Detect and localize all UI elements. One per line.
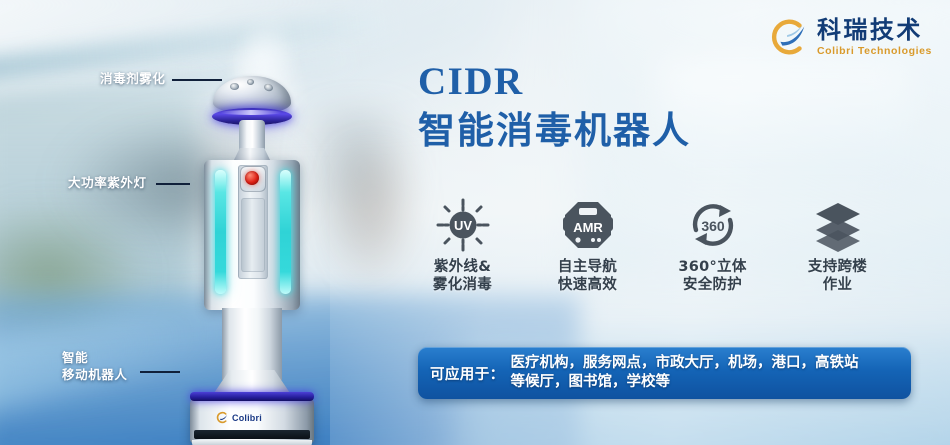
brand-name-en: Colibri Technologies [817, 46, 932, 57]
feature-item-multifloor: 支持跨楼 作业 [775, 196, 900, 294]
callout-uv-lamp-label: 大功率紫外灯 [68, 176, 147, 190]
application-text-line1: 医疗机构，服务网点，市政大厅，机场，港口，高铁站 [511, 354, 859, 373]
callout-atomize-label: 消毒剂雾化 [100, 72, 166, 86]
product-name-cn: 智能消毒机器人 [418, 112, 691, 151]
rotate-360-icon: 360 [684, 196, 742, 254]
feature-caption-multifloor-line1: 支持跨楼 [808, 259, 867, 277]
callout-atomize: 消毒剂雾化 [100, 71, 166, 88]
feature-caption-amr-line2: 快速高效 [558, 277, 617, 295]
robot-uv-lamp-right [280, 170, 291, 294]
feature-caption-uv: 紫外线& 雾化消毒 [433, 259, 492, 294]
application-text-line2: 等候厅，图书馆，学校等 [511, 373, 859, 392]
svg-text:UV: UV [453, 218, 471, 233]
feature-caption-360-line2: 安全防护 [678, 277, 746, 295]
feature-caption-uv-line2: 雾化消毒 [433, 277, 492, 295]
brand-logo-words: 科瑞技术 Colibri Technologies [817, 18, 932, 57]
robot-head-ring-gloss [220, 110, 282, 115]
stacked-layers-icon [810, 196, 866, 254]
feature-item-360: 360 360°立体 安全防护 [650, 196, 775, 294]
feature-caption-multifloor: 支持跨楼 作业 [808, 259, 867, 294]
product-code: CIDR [418, 62, 691, 101]
callout-uv-lamp-leader-line [156, 183, 190, 185]
robot-base-foot [192, 440, 312, 445]
robot-head-nozzle-3 [247, 79, 254, 85]
robot-power-button [245, 171, 259, 185]
application-banner: 可应用于： 医疗机构，服务网点，市政大厅，机场，港口，高铁站 等候厅，图书馆，学… [418, 347, 911, 399]
feature-caption-amr-line1: 自主导航 [558, 259, 617, 277]
brand-logo: 科瑞技术 Colibri Technologies [768, 16, 932, 58]
brand-name-cn: 科瑞技术 [817, 18, 932, 42]
feature-item-amr: AMR 自主导航 快速高效 [525, 196, 650, 294]
feature-list: UV 紫外线& 雾化消毒 AMR [400, 196, 940, 294]
svg-text:360: 360 [701, 218, 725, 234]
amr-robot-icon: AMR [560, 196, 616, 254]
feature-caption-amr: 自主导航 快速高效 [558, 259, 617, 294]
feature-caption-multifloor-line2: 作业 [808, 277, 867, 295]
colibri-bird-c-icon [768, 16, 810, 58]
feature-caption-360-line1: 360°立体 [678, 259, 746, 277]
callout-mobile-robot-leader-line [140, 371, 180, 373]
product-poster: Colibri 消毒剂雾化 大功率紫外灯 智能 移动机器人 科瑞技术 Colib… [0, 0, 950, 445]
colibri-bird-c-icon [216, 411, 229, 424]
disinfection-robot-image: Colibri [160, 70, 320, 430]
callout-atomize-leader-line [172, 79, 222, 81]
robot-base-logo-text: Colibri [232, 413, 262, 423]
application-label: 可应用于： [430, 363, 505, 384]
robot-base-logo: Colibri [216, 410, 288, 425]
svg-text:AMR: AMR [573, 220, 603, 235]
page-title: CIDR 智能消毒机器人 [418, 62, 691, 151]
application-text: 医疗机构，服务网点，市政大厅，机场，港口，高铁站 等候厅，图书馆，学校等 [511, 354, 859, 392]
robot-uv-lamp-left [215, 170, 226, 294]
callout-uv-lamp: 大功率紫外灯 [68, 175, 147, 192]
robot-column [222, 308, 282, 380]
robot-base-led-ring [190, 392, 314, 401]
uv-sun-icon: UV [435, 196, 491, 254]
feature-caption-uv-line1: 紫外线& [433, 259, 492, 277]
feature-item-uv: UV 紫外线& 雾化消毒 [400, 196, 525, 294]
robot-head-nozzle-1 [230, 83, 239, 90]
robot-front-slot [241, 198, 265, 272]
robot-base-dark-strip [194, 430, 310, 439]
callout-mobile-robot-label-line1: 智能 [62, 350, 128, 367]
callout-mobile-robot-label-line2: 移动机器人 [62, 367, 128, 384]
callout-mobile-robot: 智能 移动机器人 [62, 350, 128, 384]
feature-caption-360: 360°立体 安全防护 [678, 259, 746, 294]
